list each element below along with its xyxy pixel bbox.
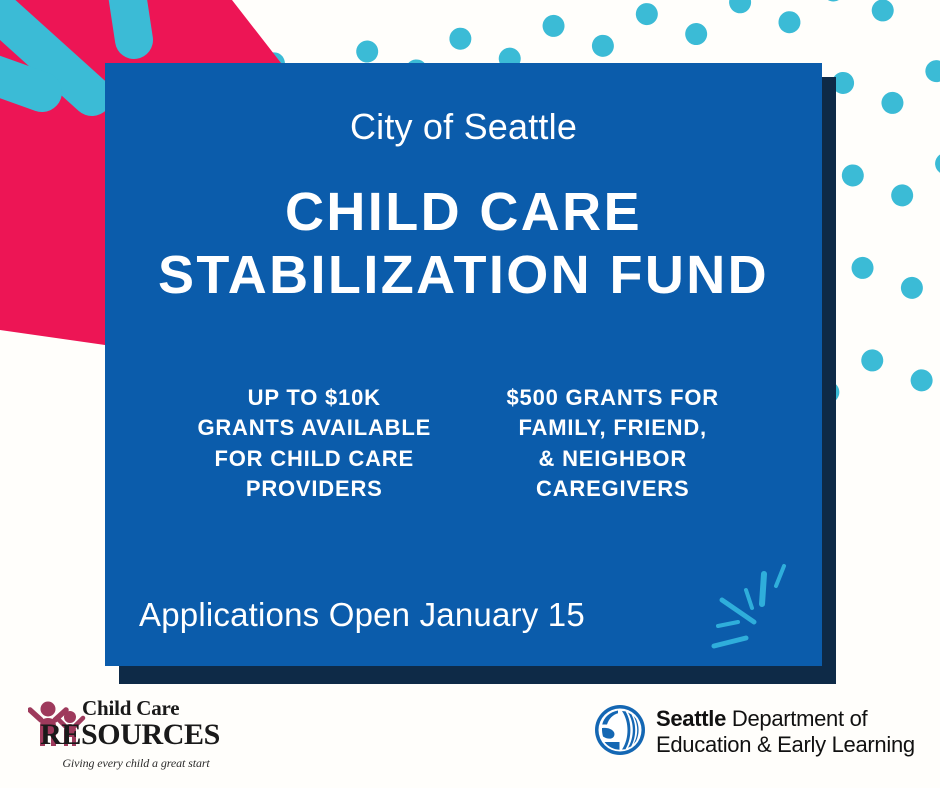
- grant-column-caregivers: $500 grants for family, friend, & neighb…: [464, 383, 763, 504]
- provider-grant-line-4: providers: [165, 474, 464, 504]
- footer-logos: Child Care RESOURCES Giving every child …: [0, 688, 940, 788]
- burst-icon: [702, 560, 812, 660]
- deel-logo-department-word: Department of: [726, 706, 867, 731]
- announcement-card: City of Seattle Child Care Stabilization…: [105, 63, 822, 666]
- card-headline: Child Care Stabilization Fund: [105, 181, 822, 306]
- provider-grant-line-3: for child care: [165, 444, 464, 474]
- headline-line-2: Stabilization Fund: [105, 244, 822, 307]
- ccr-logo-line-1: Child Care: [82, 698, 232, 719]
- poster-canvas: City of Seattle Child Care Stabilization…: [0, 0, 940, 788]
- grant-column-providers: Up to $10k grants available for child ca…: [165, 383, 464, 504]
- card-subtitle: City of Seattle: [105, 107, 822, 147]
- deel-logo-seattle-word: Seattle: [656, 706, 726, 731]
- provider-grant-line-2: grants available: [165, 413, 464, 443]
- caregiver-grant-line-2: family, friend,: [464, 413, 763, 443]
- caregiver-grant-line-3: & neighbor: [464, 444, 763, 474]
- applications-open-note: Applications Open January 15: [139, 596, 585, 634]
- provider-grant-line-1: Up to $10k: [165, 383, 464, 413]
- city-of-seattle-emblem-icon: [594, 704, 646, 756]
- deel-logo-line-1: Seattle Department of: [656, 706, 915, 732]
- ccr-logo-tagline: Giving every child a great start: [36, 756, 236, 771]
- deel-logo-line-2: Education & Early Learning: [656, 732, 915, 758]
- grant-columns: Up to $10k grants available for child ca…: [165, 383, 762, 504]
- ccr-logo-line-2: RESOURCES: [28, 720, 232, 750]
- caregiver-grant-line-4: caregivers: [464, 474, 763, 504]
- child-care-resources-logo: Child Care RESOURCES Giving every child …: [28, 698, 228, 778]
- headline-line-1: Child Care: [105, 181, 822, 244]
- caregiver-grant-line-1: $500 grants for: [464, 383, 763, 413]
- seattle-deel-logo: Seattle Department of Education & Early …: [594, 702, 914, 764]
